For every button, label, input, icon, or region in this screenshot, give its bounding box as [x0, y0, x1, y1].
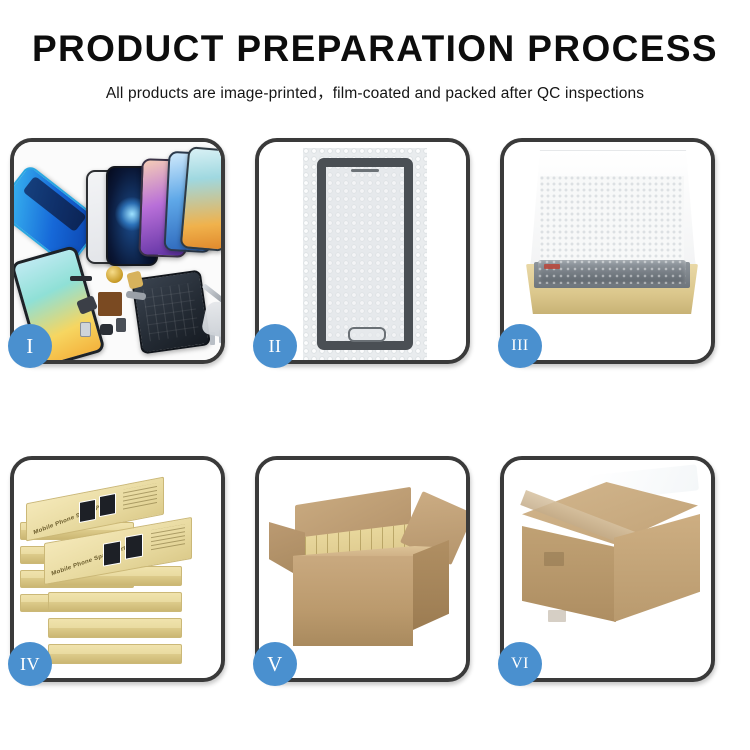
process-step-panel-2[interactable]: II: [255, 138, 470, 364]
foam-liner: [540, 176, 684, 268]
step-badge-3: III: [498, 324, 542, 368]
process-step-panel-5[interactable]: V: [255, 456, 470, 682]
step-4-illustration: Mobile Phone Spare Parts Mobile Phone Sp…: [14, 460, 221, 678]
step-badge-6: VI: [498, 642, 542, 686]
step-6-illustration: [504, 460, 711, 678]
step-5-illustration: [259, 460, 466, 678]
step-badge-2: II: [253, 324, 297, 368]
carton-seam-mark-1: [544, 552, 564, 566]
red-label-mark: [544, 264, 560, 269]
process-step-panel-6[interactable]: VI: [500, 456, 715, 682]
carton-front-face: [293, 556, 413, 646]
step-badge-4: IV: [8, 642, 52, 686]
step-badge-5: V: [253, 642, 297, 686]
earpiece-slot: [351, 169, 379, 172]
button-part: [80, 322, 91, 337]
step-badge-1: I: [8, 324, 52, 368]
carton-side-face: [413, 540, 449, 630]
box-print-thumbnail: [125, 534, 143, 560]
packed-wrapped-screen: [538, 260, 686, 284]
step-3-illustration: [504, 142, 711, 360]
process-step-panel-1[interactable]: I: [10, 138, 225, 364]
page-title: PRODUCT PREPARATION PROCESS: [0, 30, 750, 67]
battery-part: [116, 318, 126, 332]
stacked-box: [48, 592, 182, 612]
bubble-wrap-sheet: [303, 148, 427, 360]
flex-strip-part: [70, 276, 92, 281]
process-step-panel-4[interactable]: Mobile Phone Spare Parts Mobile Phone Sp…: [10, 456, 225, 682]
box-print-thumbnail: [79, 499, 96, 523]
step-1-illustration: [14, 142, 221, 360]
stacked-box: [48, 644, 182, 664]
coil-part-icon: [106, 266, 123, 283]
step-2-illustration: [259, 142, 466, 360]
page-subtitle: All products are image-printed，film-coat…: [0, 81, 750, 103]
wrapped-phone-screen: [317, 158, 413, 350]
process-step-grid: I II III: [10, 138, 740, 682]
sealed-carton-front: [522, 526, 616, 622]
box-print-thumbnail: [103, 540, 121, 566]
box-print-spec-lines: [151, 524, 185, 552]
phone-back-housing: [131, 269, 211, 354]
camera-module-part: [100, 324, 113, 335]
process-step-panel-3[interactable]: III: [500, 138, 715, 364]
page-header: PRODUCT PREPARATION PROCESS All products…: [0, 0, 750, 103]
carton-seam-mark-2: [548, 610, 566, 622]
stacked-box: [48, 618, 182, 638]
ic-chip-part: [98, 292, 122, 316]
box-print-thumbnail: [99, 493, 116, 517]
box-print-spec-lines: [123, 483, 157, 512]
